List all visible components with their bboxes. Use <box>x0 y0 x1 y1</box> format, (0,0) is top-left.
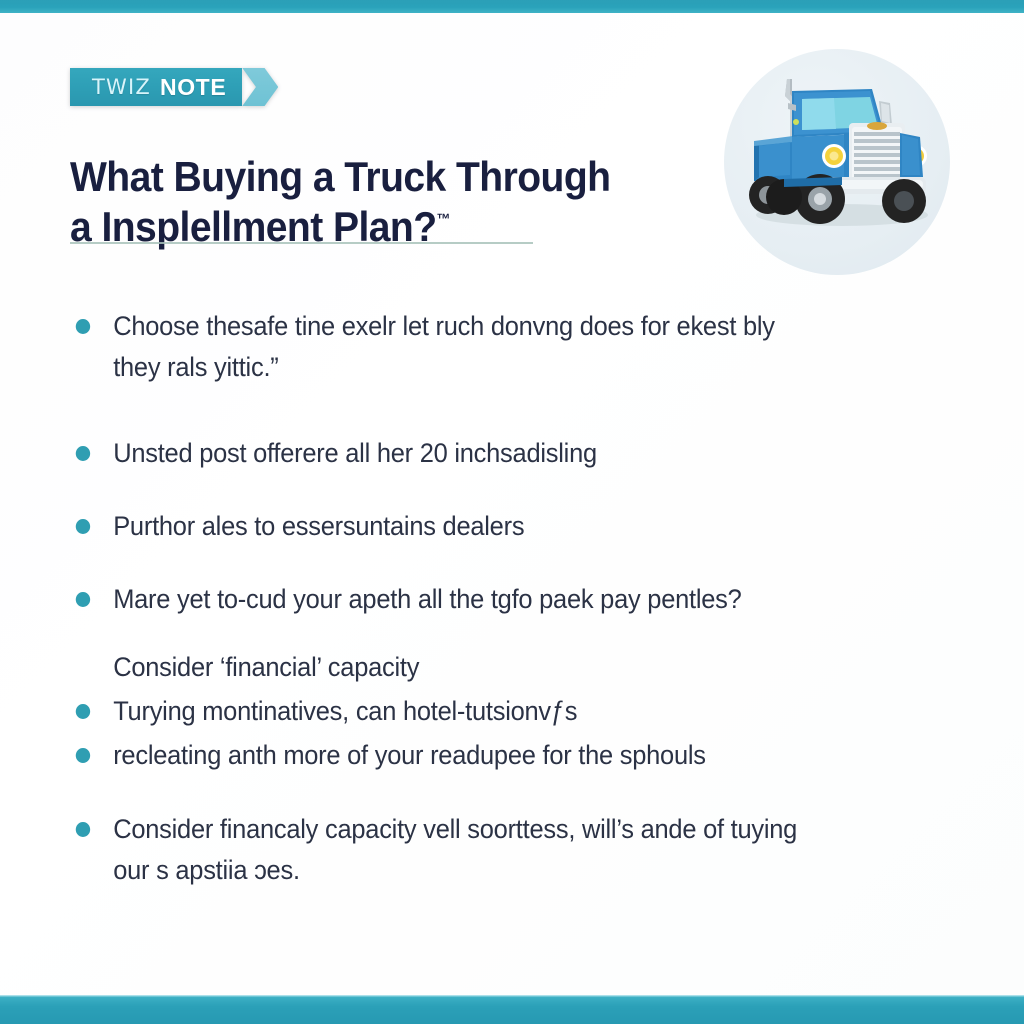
top-accent-band <box>0 0 1024 13</box>
twiz-note-ribbon-badge: TWIZ NOTE <box>70 68 278 106</box>
spacer <box>70 777 860 809</box>
list-item: Unsted post offerere all her 20 inchsadi… <box>70 433 828 474</box>
infographic-card: TWIZ NOTE What Buying a Truck Through a … <box>0 0 1024 1024</box>
bullet-dot-icon <box>76 319 90 334</box>
list-item: Mare yet to-cud your apeth all the tgfo … <box>70 579 828 620</box>
spacer <box>70 547 860 579</box>
list-item: Purthor ales to essersuntains dealers <box>70 506 828 547</box>
ribbon-brand-label: TWIZ <box>92 75 151 99</box>
list-item-text: Turying montinatives, can hotel-tutsionᴠ… <box>113 696 577 726</box>
page-title: What Buying a Truck Through a Insplellme… <box>70 152 647 252</box>
ribbon-note-label: NOTE <box>160 74 226 101</box>
title-divider <box>70 242 533 244</box>
spacer <box>70 621 860 647</box>
list-item: recleating anth more of your readupee fo… <box>70 735 828 776</box>
list-item: Consider financaly capacity vell soortte… <box>70 809 828 892</box>
bullet-dot-icon <box>76 748 90 763</box>
list-item-text: Mare yet to-cud your apeth all the tgfo … <box>113 584 741 614</box>
list-item-text: Unsted post offerere all her 20 inchsadi… <box>113 438 597 468</box>
list-item: Turying montinatives, can hotel-tutsionᴠ… <box>70 691 828 732</box>
bullet-dot-icon <box>76 592 90 607</box>
ribbon-arrow-icon <box>242 68 278 106</box>
bottom-accent-band <box>0 995 1024 1024</box>
trademark-mark: ™ <box>437 211 451 228</box>
subheading-text: Consider ‘financial’ capacity <box>113 652 419 682</box>
list-item: Choose thesafe tine exelr let ruch donvn… <box>70 306 828 389</box>
ribbon-body: TWIZ NOTE <box>70 68 242 106</box>
truck-icon <box>724 49 950 275</box>
spacer <box>70 389 860 433</box>
bullet-dot-icon <box>76 519 90 534</box>
truck-illustration <box>724 49 950 275</box>
bullet-dot-icon <box>76 704 90 719</box>
page-title-line-1: What Buying a Truck Through <box>70 153 610 200</box>
list-item-text: Choose thesafe tine exelr let ruch donvn… <box>113 311 775 382</box>
bullet-dot-icon <box>76 822 90 837</box>
list-item-text: recleating anth more of your readupee fo… <box>113 740 706 770</box>
list-item-text: Consider financaly capacity vell soortte… <box>113 814 797 885</box>
list-item-text: Purthor ales to essersuntains dealers <box>113 511 524 541</box>
bullet-list: Choose thesafe tine exelr let ruch donvn… <box>70 306 860 891</box>
spacer <box>70 474 860 506</box>
bullet-dot-icon <box>76 446 90 461</box>
subheading-financial-capacity: Consider ‘financial’ capacity <box>70 647 828 688</box>
